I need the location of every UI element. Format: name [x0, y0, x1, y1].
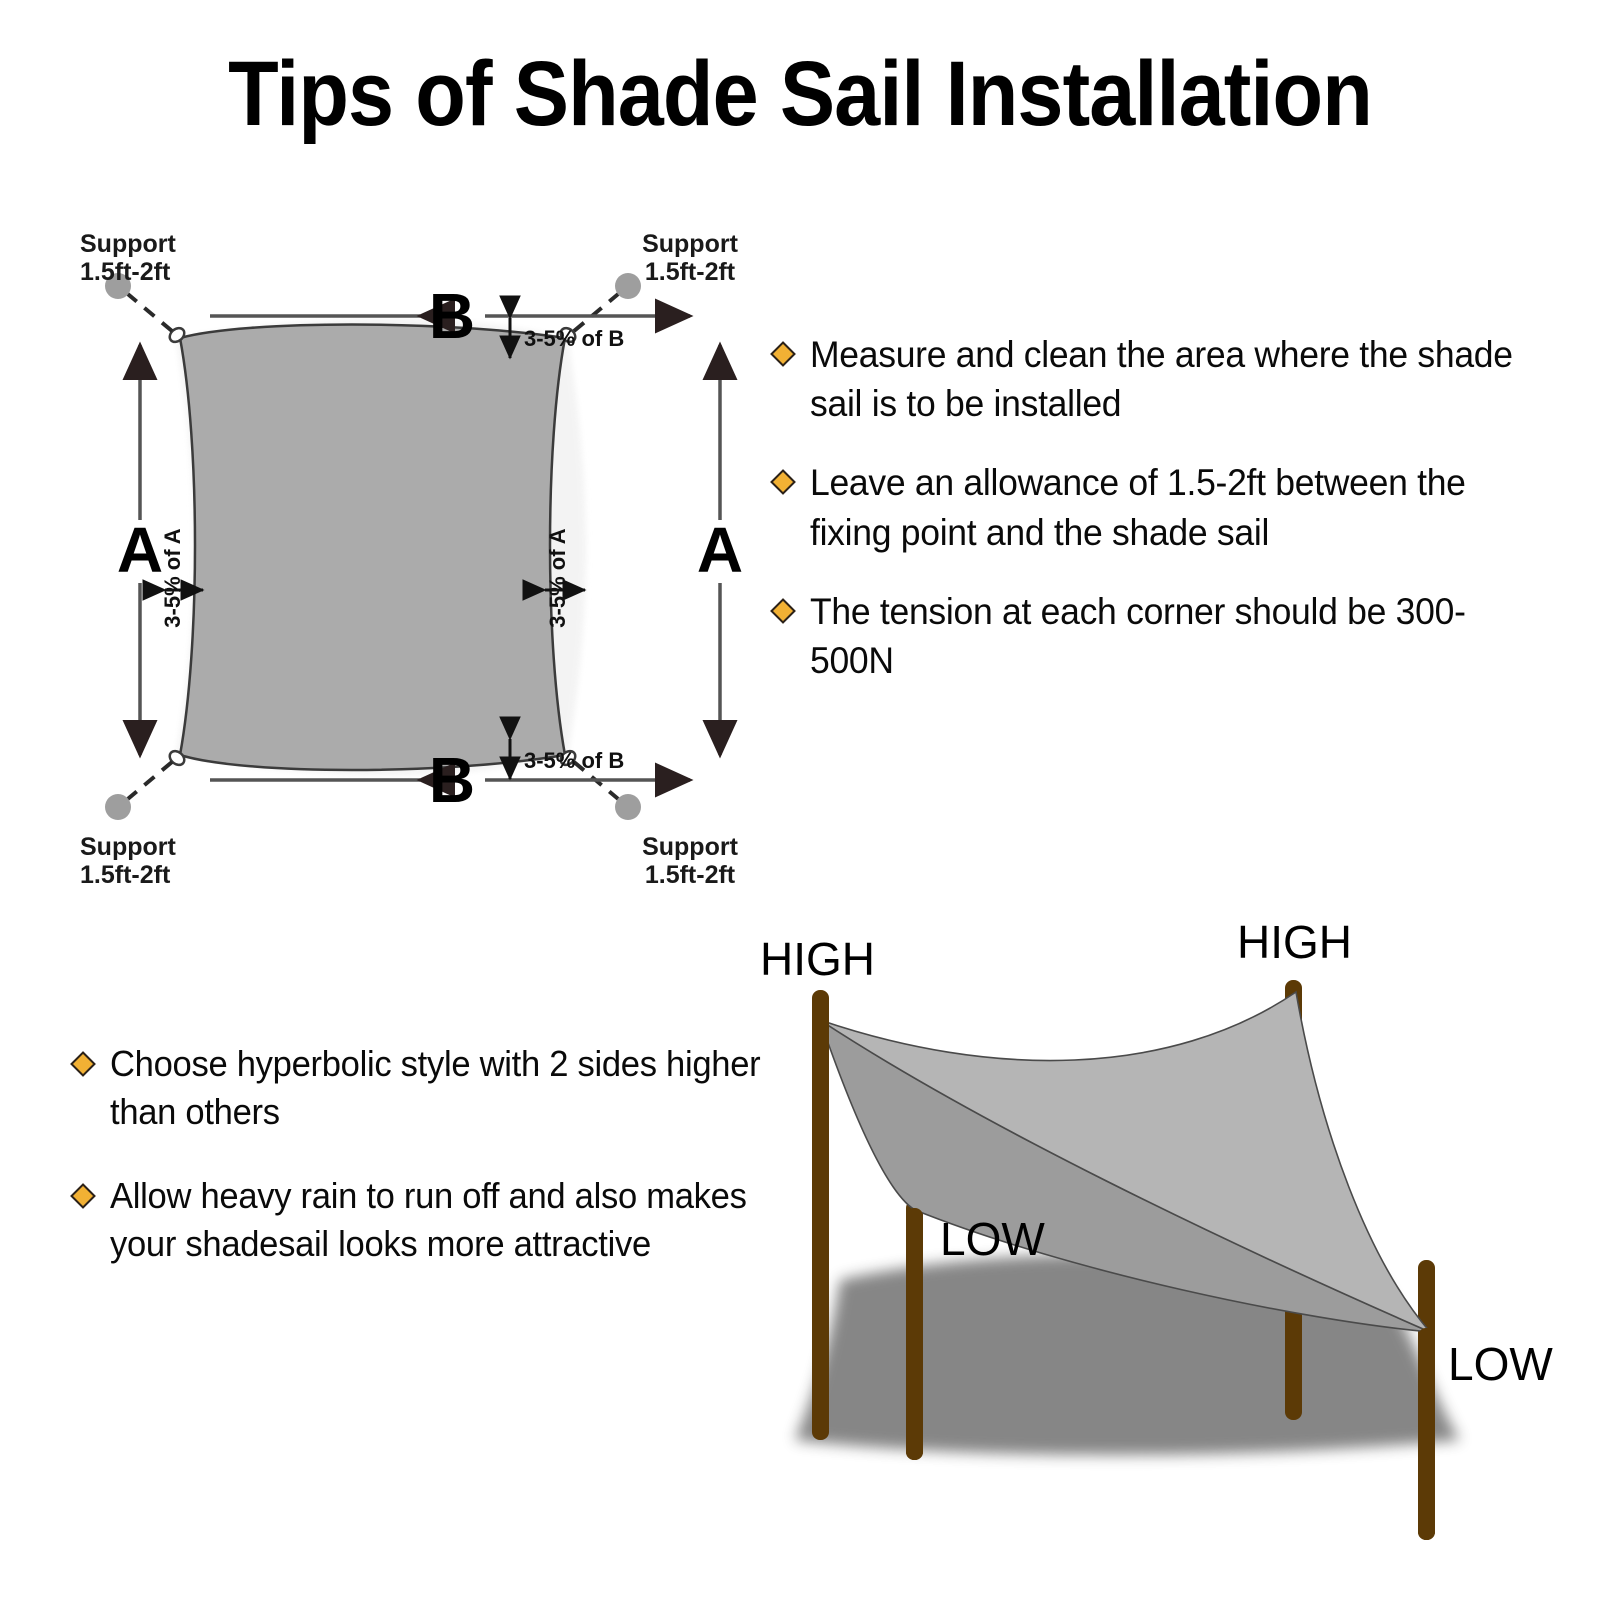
diamond-bullet-icon [770, 598, 796, 624]
support-dot-top-right [615, 273, 641, 299]
label-low-left: LOW [940, 1213, 1045, 1265]
tips-list-right: Measure and clean the area where the sha… [770, 330, 1570, 715]
infographic-page: Tips of Shade Sail Installation [0, 0, 1600, 1600]
diamond-bullet-icon [770, 469, 796, 495]
shade-sail-fabric [180, 325, 565, 771]
tip-text: Choose hyperbolic style with 2 sides hig… [110, 1040, 763, 1136]
curve-label-right: 3-5% of A [545, 528, 570, 628]
support-label-bottom-right-line2: 1.5ft-2ft [645, 861, 736, 889]
support-label-top-right-line1: Support [642, 230, 738, 258]
tip-text: Allow heavy rain to run off and also mak… [110, 1172, 763, 1268]
label-high-left: HIGH [760, 933, 875, 985]
tip-item: Choose hyperbolic style with 2 sides hig… [70, 1040, 790, 1136]
tip-item: Allow heavy rain to run off and also mak… [70, 1172, 790, 1268]
tip-item: The tension at each corner should be 300… [770, 587, 1570, 685]
curve-label-bottom: 3-5% of B [524, 748, 624, 773]
pole-high-left [812, 990, 829, 1440]
tether-top-right [574, 290, 623, 331]
support-dot-bottom-left [105, 794, 131, 820]
tether-bottom-left [123, 762, 172, 803]
label-low-right: LOW [1448, 1338, 1553, 1390]
pole-low-left-front [906, 1208, 923, 1460]
tip-item: Measure and clean the area where the sha… [770, 330, 1570, 428]
tip-text: The tension at each corner should be 300… [810, 587, 1540, 685]
support-label-top-left-line1: Support [80, 230, 176, 258]
label-high-right: HIGH [1237, 916, 1352, 968]
dimension-label-b-top: B [429, 280, 475, 352]
hyperbolic-sail-diagram: HIGH HIGH LOW LOW [740, 880, 1600, 1540]
tip-text: Leave an allowance of 1.5-2ft between th… [810, 458, 1540, 556]
dimension-a-right: A [697, 345, 743, 755]
dimension-label-a-left: A [117, 514, 163, 586]
tips-list-bottom: Choose hyperbolic style with 2 sides hig… [70, 1040, 790, 1304]
dimension-label-a-right: A [697, 514, 743, 586]
tip-text: Measure and clean the area where the sha… [810, 330, 1540, 428]
tether-top-left [123, 290, 172, 331]
curve-label-top: 3-5% of B [524, 326, 624, 351]
support-dot-bottom-right [615, 794, 641, 820]
diamond-bullet-icon [770, 341, 796, 367]
support-label-bottom-right-line1: Support [642, 833, 738, 861]
dimension-label-b-bottom: B [429, 744, 475, 816]
support-label-bottom-left-line1: Support [80, 833, 176, 861]
support-label-top-left-line2: 1.5ft-2ft [80, 258, 171, 286]
dimension-a-left: A [117, 345, 163, 755]
pole-low-right-front [1418, 1328, 1435, 1540]
curve-label-left: 3-5% of A [160, 528, 185, 628]
square-sail-diagram: Support 1.5ft-2ft Support 1.5ft-2ft Supp… [40, 190, 780, 900]
diamond-bullet-icon [70, 1183, 96, 1209]
page-title: Tips of Shade Sail Installation [80, 48, 1520, 140]
tip-item: Leave an allowance of 1.5-2ft between th… [770, 458, 1570, 556]
diamond-bullet-icon [70, 1051, 96, 1077]
support-label-top-right-line2: 1.5ft-2ft [645, 258, 736, 286]
support-label-bottom-left-line2: 1.5ft-2ft [80, 861, 171, 889]
